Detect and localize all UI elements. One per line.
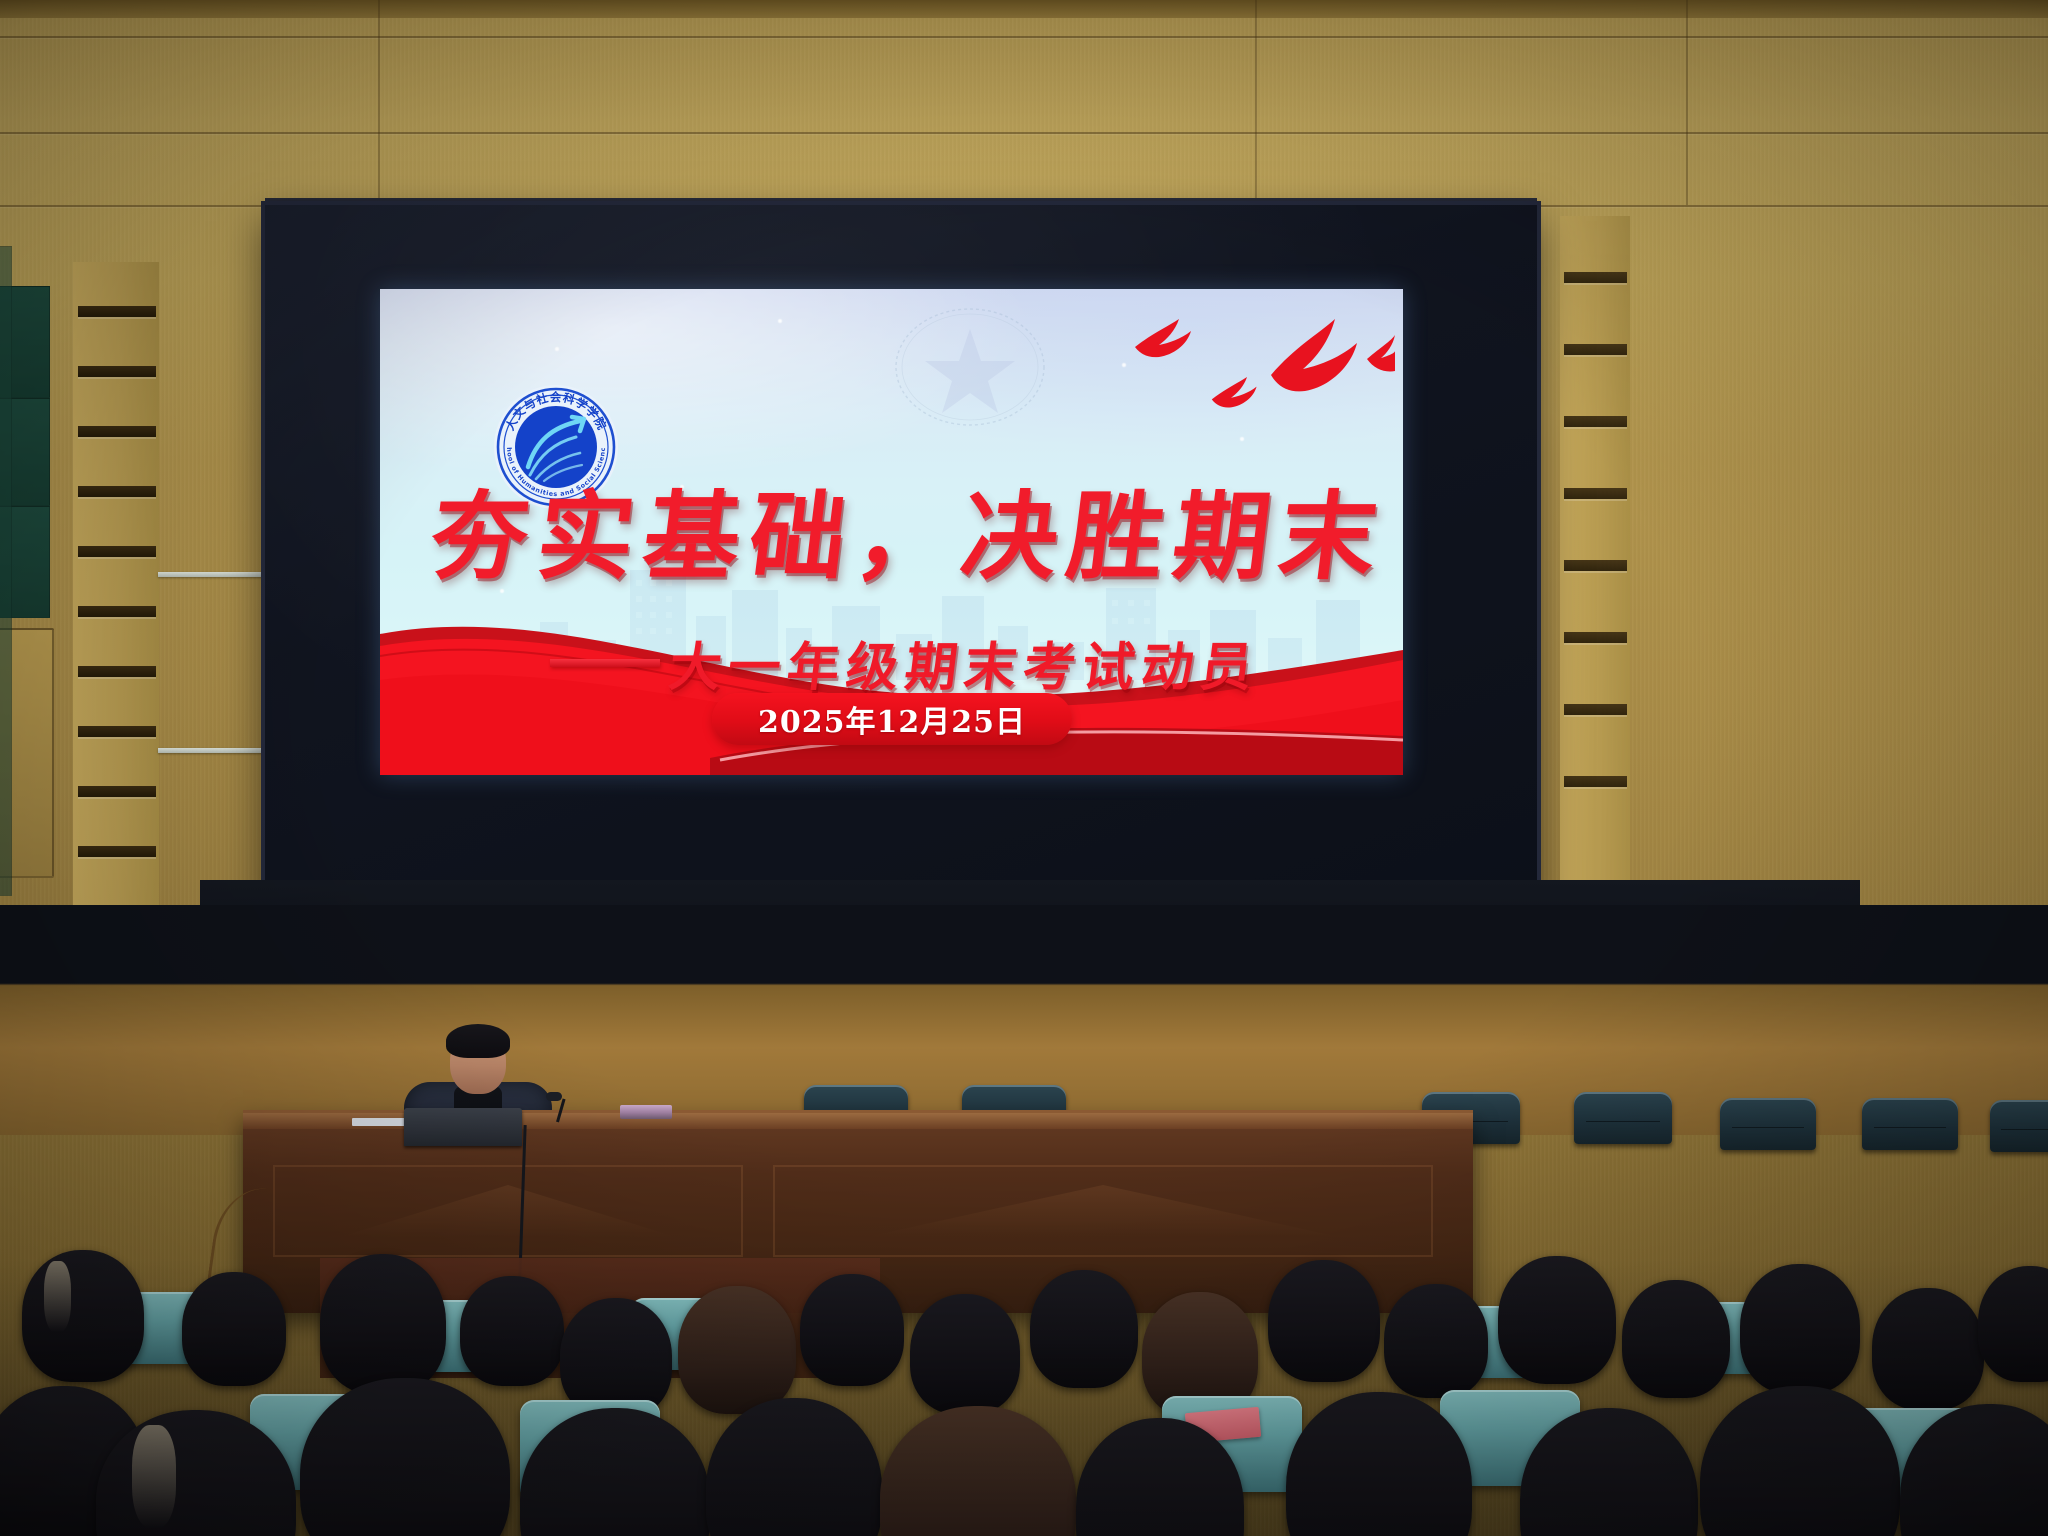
audience-person	[1268, 1260, 1380, 1382]
podium-panel	[773, 1165, 1433, 1257]
date-badge-label: 2025年12月25日	[758, 697, 1026, 741]
wall-seam-vertical	[378, 0, 380, 205]
wall-seam-vertical	[1686, 0, 1688, 205]
wall-rail	[158, 572, 276, 577]
audience-person	[800, 1274, 904, 1386]
audience-person	[1740, 1264, 1860, 1394]
audience-person	[678, 1286, 796, 1414]
stage-chair	[1574, 1092, 1672, 1144]
ceiling-band	[0, 0, 2048, 18]
wall-pilaster-left	[73, 262, 159, 962]
stage-chair	[1720, 1098, 1816, 1150]
podium-laptop[interactable]	[404, 1108, 522, 1146]
podium-papers	[352, 1118, 410, 1126]
slide-title: 夯实基础，决胜期末	[426, 489, 1368, 585]
stage-chair	[1990, 1100, 2048, 1152]
audience-person	[1622, 1280, 1730, 1398]
audience-person	[706, 1398, 882, 1536]
presenter-hair	[446, 1024, 510, 1058]
wall-seam	[0, 132, 2048, 134]
audience-area	[0, 1258, 2048, 1536]
wall-pilaster-right	[1560, 216, 1630, 906]
wall-seam-vertical	[1255, 0, 1257, 205]
acoustic-panel	[0, 246, 12, 896]
subtitle-dash-rule	[550, 659, 660, 667]
wall-rail	[158, 748, 276, 753]
stage-chair	[1862, 1098, 1958, 1150]
audience-person	[880, 1406, 1076, 1536]
podium-panel	[273, 1165, 743, 1257]
star-seal-watermark	[885, 301, 1055, 433]
audience-person	[1498, 1256, 1616, 1384]
audience-person	[910, 1294, 1020, 1414]
audience-person	[1384, 1284, 1488, 1398]
audience-person	[182, 1272, 286, 1386]
flying-birds-decoration	[1095, 305, 1395, 455]
audience-person	[1978, 1266, 2048, 1382]
presentation-slide[interactable]: 人文与社会科学学院 School of Humanities and Socia…	[380, 289, 1403, 775]
audience-person	[460, 1276, 564, 1386]
audience-person	[22, 1250, 144, 1382]
audience-person	[320, 1254, 446, 1394]
wall-seam	[0, 36, 2048, 38]
slide-subtitle-row: 大一年级期末考试动员	[550, 625, 1370, 700]
slide-subtitle: 大一年级期末考试动员	[665, 625, 1264, 700]
microphone-head	[546, 1092, 562, 1101]
audience-person	[1030, 1270, 1138, 1388]
audience-person	[1872, 1288, 1984, 1410]
auditorium-scene: 人文与社会科学学院 School of Humanities and Socia…	[0, 0, 2048, 1536]
date-badge: 2025年12月25日	[712, 693, 1072, 745]
podium-books	[620, 1105, 672, 1119]
